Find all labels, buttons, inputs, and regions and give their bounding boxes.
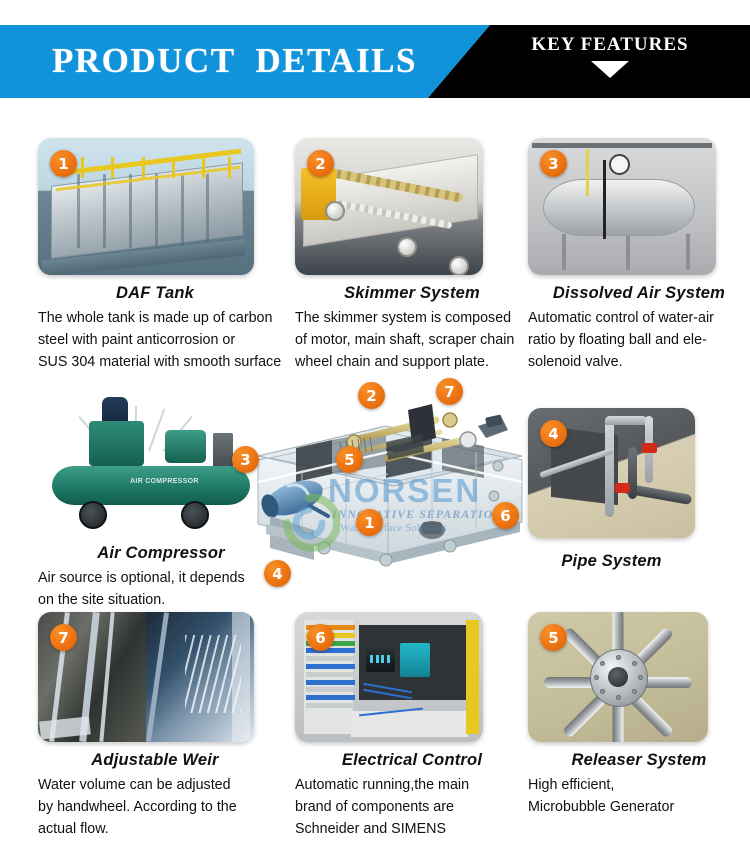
diagram-callout-1: 1 bbox=[356, 509, 383, 536]
diagram-callout-3: 3 bbox=[232, 446, 259, 473]
card-description: High efficient, Microbubble Generator bbox=[528, 774, 750, 818]
card-title: Skimmer System bbox=[295, 284, 529, 303]
feature-card-skimmer-system: 2 Skimmer System The skimmer system is c… bbox=[295, 138, 529, 373]
daf-unit-3d-diagram: NORSEN INNOVATIVE SEPARATION Water Surfa… bbox=[236, 382, 526, 582]
feature-card-releaser-system: 5 Releaser System High efficient, Microb… bbox=[528, 612, 750, 818]
card-description: The whole tank is made up of carbon stee… bbox=[38, 307, 272, 373]
card-title: Adjustable Weir bbox=[38, 751, 272, 770]
feature-card-adjustable-weir: 7 Adjustable Weir Water volume can be ad… bbox=[38, 612, 272, 840]
dissolved-air-system-photo: 3 bbox=[528, 138, 716, 275]
page-title: PRODUCT DETAILS bbox=[52, 41, 417, 81]
card-title: Electrical Control bbox=[295, 751, 529, 770]
badge-number-3: 3 bbox=[540, 150, 567, 177]
card-description: Water volume can be adjusted by handwhee… bbox=[38, 774, 272, 840]
card-title: DAF Tank bbox=[38, 284, 272, 303]
card-description: Automatic running,the main brand of comp… bbox=[295, 774, 529, 840]
badge-number-5: 5 bbox=[540, 624, 567, 651]
key-features-block: KEY FEATURES bbox=[520, 34, 700, 78]
daf-tank-photo: 1 bbox=[38, 138, 254, 275]
feature-card-dissolved-air-system: 3 Dissolved Air System Automatic control… bbox=[528, 138, 750, 373]
releaser-system-photo: 5 bbox=[528, 612, 708, 742]
feature-card-daf-tank: 1 DAF Tank The whole tank is made up of … bbox=[38, 138, 272, 373]
adjustable-weir-photo: 7 bbox=[38, 612, 254, 742]
badge-number-6: 6 bbox=[307, 624, 334, 651]
badge-number-4: 4 bbox=[540, 420, 567, 447]
card-description: The skimmer system is composed of motor,… bbox=[295, 307, 529, 373]
diagram-callout-5: 5 bbox=[336, 446, 363, 473]
diagram-callout-7: 7 bbox=[436, 378, 463, 405]
daf-unit-illustration bbox=[236, 382, 526, 582]
feature-card-electrical-control: 6 Electrical Control Automatic running,t… bbox=[295, 612, 529, 840]
diagram-callout-6: 6 bbox=[492, 502, 519, 529]
triangle-down-icon bbox=[591, 61, 629, 78]
diagram-callout-2: 2 bbox=[358, 382, 385, 409]
card-description: Automatic control of water-air ratio by … bbox=[528, 307, 750, 373]
badge-number-2: 2 bbox=[307, 150, 334, 177]
pipe-system-photo: 4 bbox=[528, 408, 695, 538]
card-title: Pipe System bbox=[528, 552, 695, 571]
page-header-banner: PRODUCT DETAILS KEY FEATURES bbox=[0, 25, 750, 98]
card-title: Dissolved Air System bbox=[528, 284, 750, 303]
skimmer-system-photo: 2 bbox=[295, 138, 483, 275]
badge-number-1: 1 bbox=[50, 150, 77, 177]
card-title: Releaser System bbox=[528, 751, 750, 770]
badge-number-7: 7 bbox=[50, 624, 77, 651]
feature-card-pipe-system: 4 Pipe System bbox=[528, 408, 750, 575]
key-features-label: KEY FEATURES bbox=[520, 34, 700, 56]
diagram-callout-4: 4 bbox=[264, 560, 291, 587]
electrical-control-photo: 6 bbox=[295, 612, 483, 742]
